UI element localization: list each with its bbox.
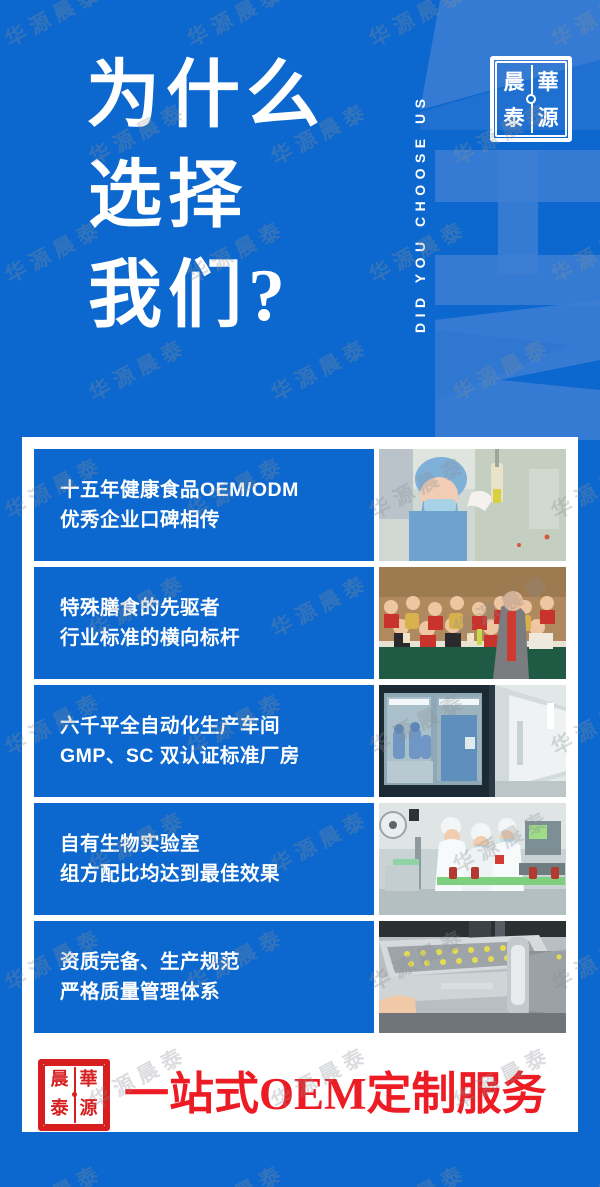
poster-root: 为什么 选择 我们? DID YOU CHOOSE US 華 源 晨 泰 十五年… (0, 0, 600, 1187)
brand-seal-icon: 華 源 晨 泰 (490, 56, 572, 142)
list-item: 资质完备、生产规范 严格质量管理体系 (34, 921, 566, 1033)
watermark-text: 华源晨泰 (363, 1156, 472, 1187)
seal-glyph-4: 泰 (497, 99, 531, 135)
clean-room-corridor-photo (379, 685, 566, 797)
card-line-1: 六千平全自动化生产车间 (60, 711, 374, 741)
watermark-text: 华源晨泰 (545, 1156, 600, 1187)
seal-glyph-4: 泰 (45, 1095, 74, 1124)
seal-glyph-2: 源 (74, 1095, 103, 1124)
seal-glyph-3: 晨 (45, 1066, 74, 1095)
watermark-text: 华源晨泰 (0, 1156, 109, 1187)
card-line-2: 组方配比均达到最佳效果 (60, 859, 374, 889)
features-panel: 十五年健康食品OEM/ODM 优秀企业口碑相传 (22, 437, 578, 1057)
watermark-text: 华源晨泰 (181, 1156, 290, 1187)
title-line-3: 我们? (88, 246, 386, 346)
watermark-text: 华源晨泰 (0, 566, 11, 643)
card-line-2: 严格质量管理体系 (60, 977, 374, 1007)
lab-technician-inspecting-vial-photo (379, 449, 566, 561)
list-item: 六千平全自动化生产车间 GMP、SC 双认证标准厂房 (34, 685, 566, 797)
vertical-tagline: DID YOU CHOOSE US (402, 18, 428, 408)
card-line-1: 资质完备、生产规范 (60, 947, 374, 977)
title-line-1: 为什么 (86, 46, 386, 146)
seal-center-dot-icon (528, 96, 534, 102)
list-item: 十五年健康食品OEM/ODM 优秀企业口碑相传 (34, 449, 566, 561)
title-line-2: 选择 (88, 146, 386, 246)
watermark-text: 华源晨泰 (0, 1038, 11, 1115)
page-title: 为什么 选择 我们? (86, 46, 386, 346)
card-line-1: 十五年健康食品OEM/ODM (60, 475, 374, 505)
conference-audience-photo (379, 567, 566, 679)
production-line-workers-photo (379, 803, 566, 915)
tablet-packaging-machine-photo (379, 921, 566, 1033)
seal-glyph-1: 華 (531, 63, 565, 99)
card-line-1: 自有生物实验室 (60, 829, 374, 859)
card-workshop[interactable]: 六千平全自动化生产车间 GMP、SC 双认证标准厂房 (34, 685, 374, 797)
footer-banner: 華 源 晨 泰 一站式OEM定制服务 (22, 1057, 578, 1132)
card-line-2: 优秀企业口碑相传 (60, 505, 374, 535)
seal-glyph-3: 晨 (497, 63, 531, 99)
header-section: 为什么 选择 我们? DID YOU CHOOSE US 華 源 晨 泰 (0, 0, 600, 437)
card-line-2: GMP、SC 双认证标准厂房 (60, 741, 374, 771)
footer-slogan: 一站式OEM定制服务 (124, 1072, 547, 1117)
card-line-2: 行业标准的横向标杆 (60, 623, 374, 653)
features-list: 十五年健康食品OEM/ODM 优秀企业口碑相传 (34, 449, 566, 1033)
watermark-text: 华源晨泰 (0, 802, 11, 879)
brand-seal-red-icon: 華 源 晨 泰 (38, 1059, 110, 1131)
seal-glyph-1: 華 (74, 1066, 103, 1095)
list-item: 自有生物实验室 组方配比均达到最佳效果 (34, 803, 566, 915)
card-laboratory[interactable]: 自有生物实验室 组方配比均达到最佳效果 (34, 803, 374, 915)
card-quality[interactable]: 资质完备、生产规范 严格质量管理体系 (34, 921, 374, 1033)
card-oem-odm[interactable]: 十五年健康食品OEM/ODM 优秀企业口碑相传 (34, 449, 374, 561)
list-item: 特殊膳食的先驱者 行业标准的横向标杆 (34, 567, 566, 679)
seal-glyph-2: 源 (531, 99, 565, 135)
seal-center-dot-icon (72, 1092, 77, 1097)
card-line-1: 特殊膳食的先驱者 (60, 593, 374, 623)
card-special-diet[interactable]: 特殊膳食的先驱者 行业标准的横向标杆 (34, 567, 374, 679)
